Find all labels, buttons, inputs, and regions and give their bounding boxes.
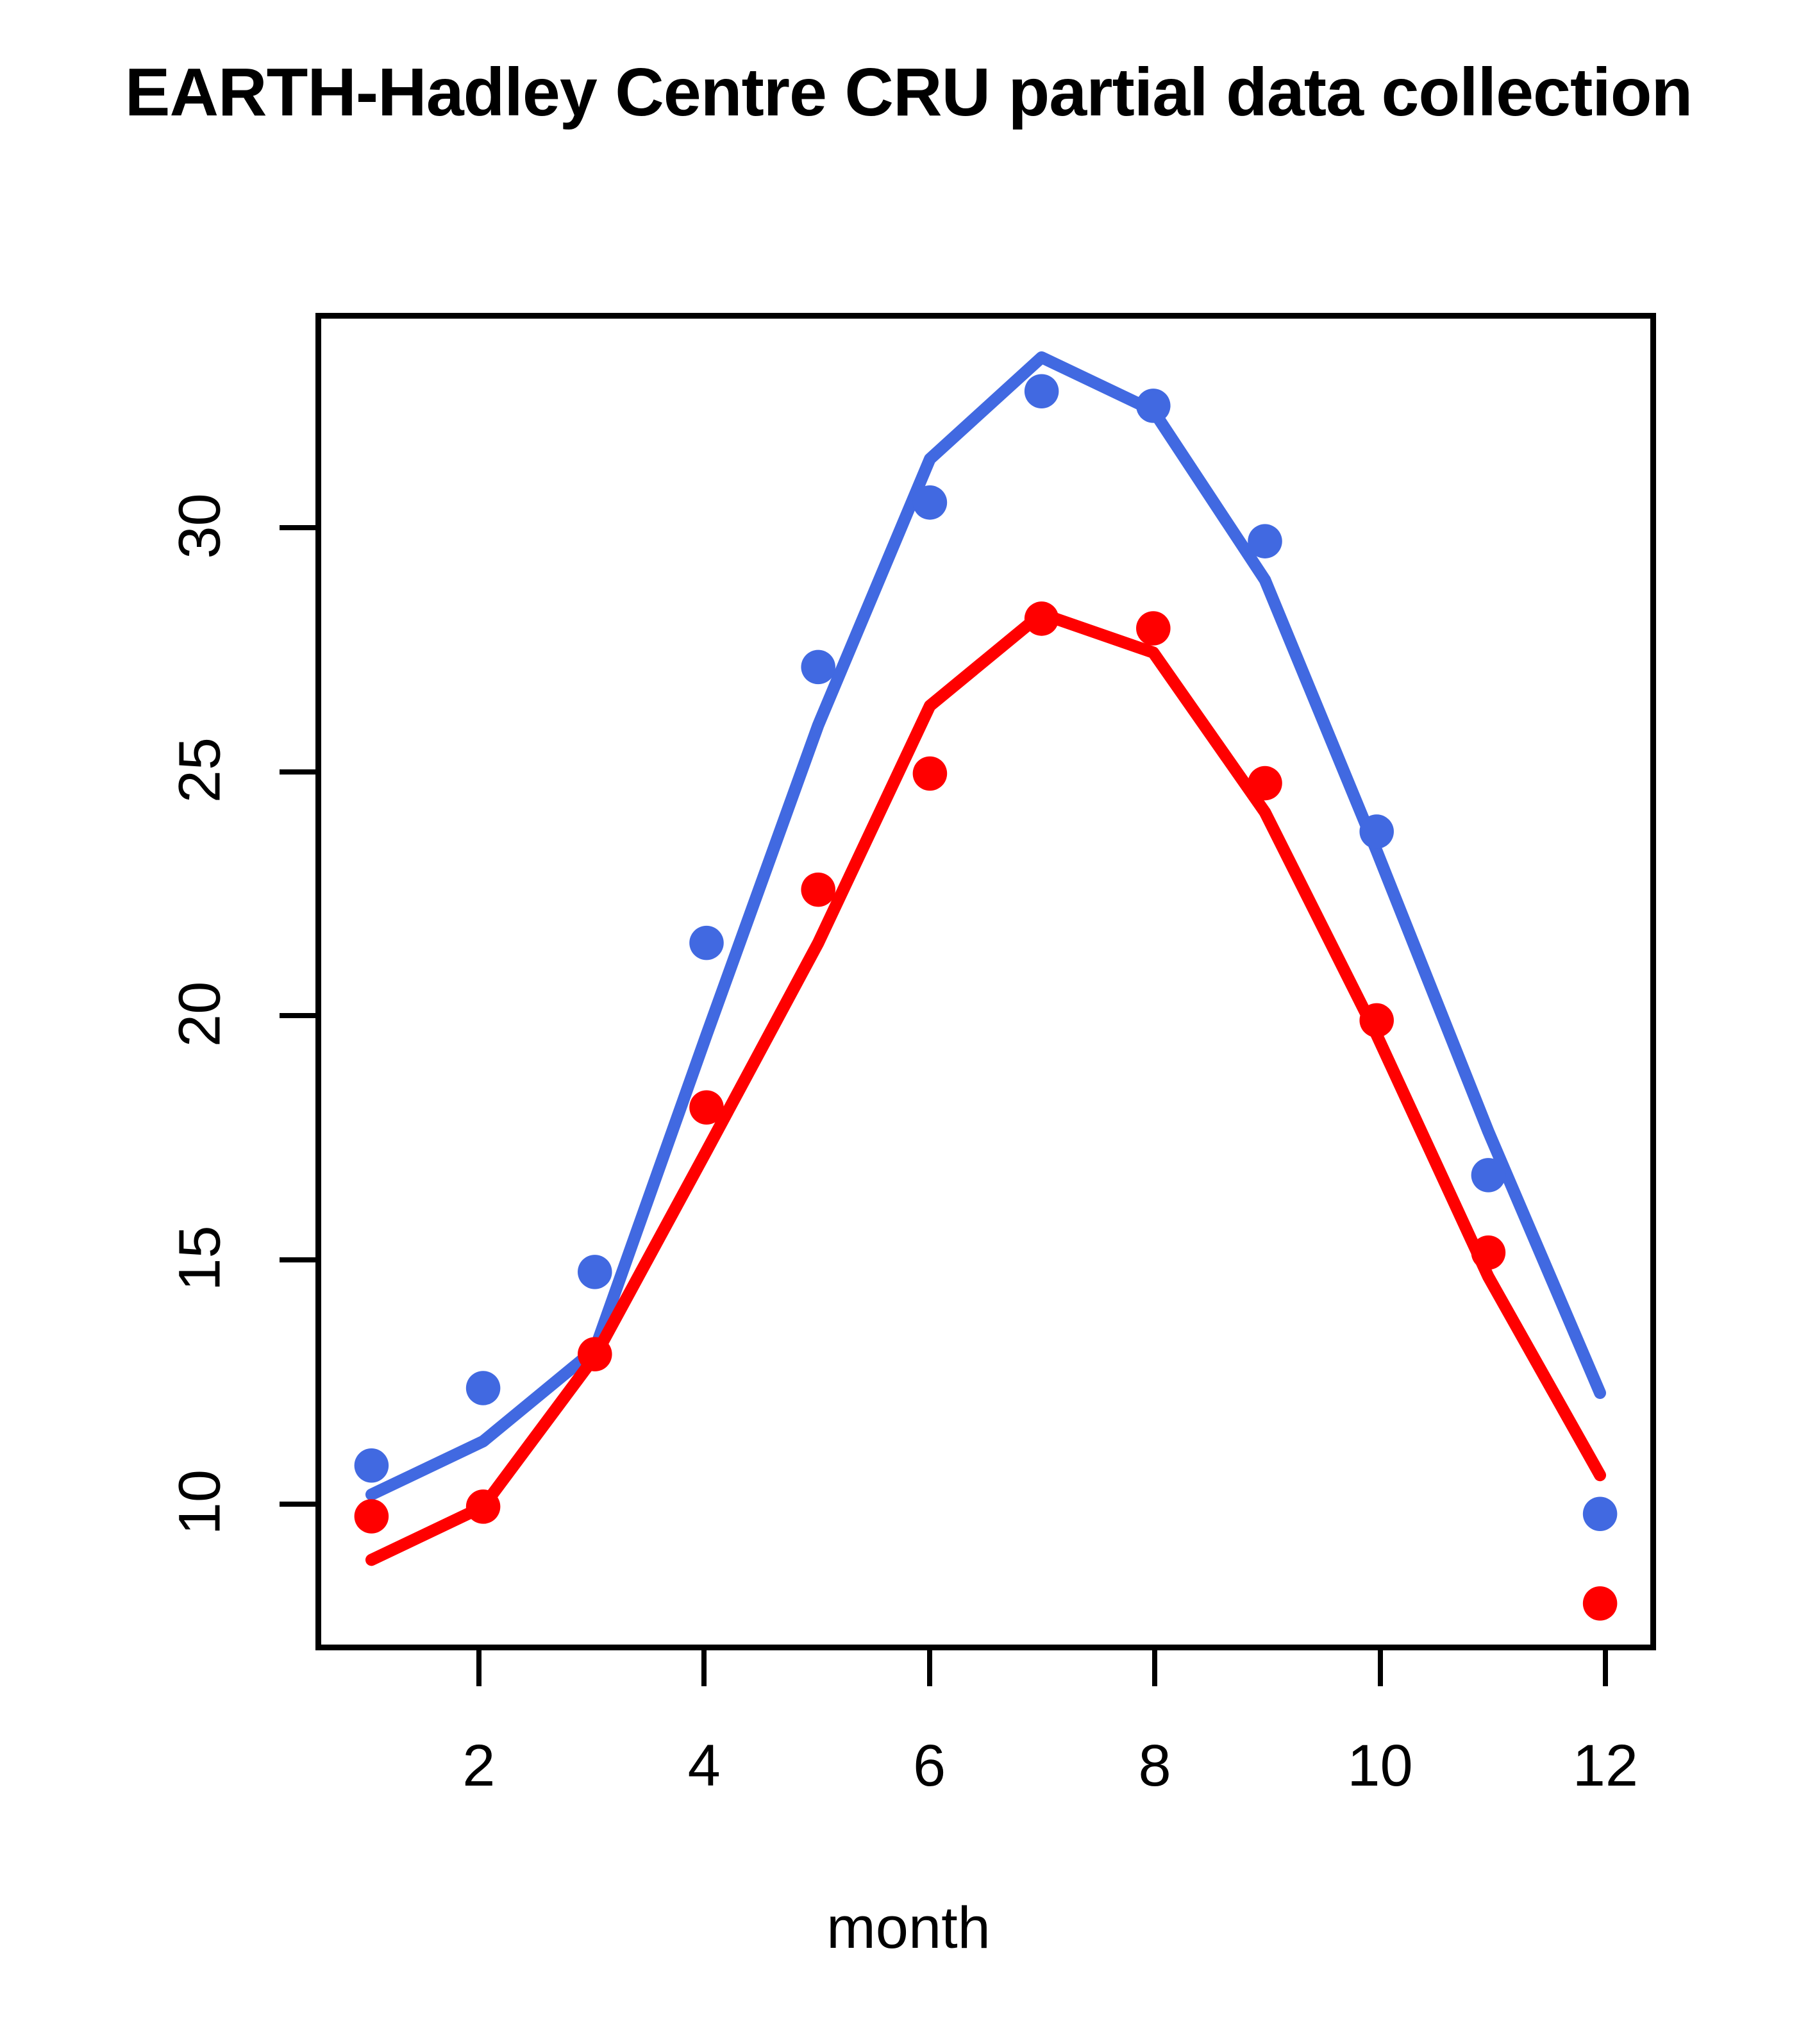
red-series-point xyxy=(1248,766,1282,801)
x-tick-label: 4 xyxy=(627,1732,781,1800)
blue-series-point xyxy=(1136,389,1171,423)
chart-title: EARTH-Hadley Centre CRU partial data col… xyxy=(125,55,1692,130)
blue-series-point xyxy=(1471,1158,1506,1193)
y-tick-mark xyxy=(280,525,315,530)
blue-series-point xyxy=(801,650,835,685)
x-tick-mark xyxy=(701,1650,707,1686)
blue-series-point xyxy=(355,1448,389,1483)
red-series-point xyxy=(689,1090,724,1125)
x-tick-mark xyxy=(1152,1650,1157,1686)
blue-series-point xyxy=(1025,374,1059,408)
y-tick-label: 15 xyxy=(167,1187,234,1328)
x-tick-mark xyxy=(476,1650,481,1686)
x-tick-mark xyxy=(1378,1650,1383,1686)
blue-series-point xyxy=(1583,1496,1618,1531)
y-tick-label: 30 xyxy=(167,455,234,596)
blue-series-line xyxy=(371,357,1600,1495)
x-tick-label: 6 xyxy=(853,1732,1007,1800)
x-tick-label: 8 xyxy=(1078,1732,1232,1800)
red-series-point xyxy=(1025,601,1059,636)
chart-root: EARTH-Hadley Centre CRU partial data col… xyxy=(0,0,1817,2044)
x-tick-mark xyxy=(1603,1650,1608,1686)
blue-series-point xyxy=(466,1371,501,1405)
x-axis-title: month xyxy=(826,1895,991,1962)
y-tick-mark xyxy=(280,1257,315,1262)
red-series-point xyxy=(466,1489,501,1524)
red-series-point xyxy=(578,1337,612,1371)
y-tick-mark xyxy=(280,1013,315,1018)
red-series-point xyxy=(801,873,835,907)
y-tick-label: 10 xyxy=(167,1432,234,1573)
y-tick-mark xyxy=(280,1502,315,1507)
blue-series-point xyxy=(913,485,948,520)
x-tick-label: 2 xyxy=(402,1732,556,1800)
y-tick-mark xyxy=(280,769,315,775)
red-series-line xyxy=(371,614,1600,1560)
blue-series-point xyxy=(578,1255,612,1289)
red-series-point xyxy=(1583,1586,1618,1621)
y-tick-label: 25 xyxy=(167,699,234,841)
blue-series-point xyxy=(1248,524,1282,558)
blue-series-point xyxy=(1359,814,1394,849)
red-series-point xyxy=(1136,611,1171,646)
x-tick-label: 10 xyxy=(1303,1732,1457,1800)
x-tick-label: 12 xyxy=(1528,1732,1682,1800)
plot-area xyxy=(315,313,1656,1650)
red-series-point xyxy=(1471,1236,1506,1270)
red-series-point xyxy=(913,757,948,791)
red-series-point xyxy=(1359,1003,1394,1038)
red-series-point xyxy=(355,1499,389,1534)
plot-svg xyxy=(321,319,1650,1645)
blue-series-point xyxy=(689,926,724,960)
y-tick-label: 20 xyxy=(167,944,234,1085)
x-tick-mark xyxy=(927,1650,932,1686)
